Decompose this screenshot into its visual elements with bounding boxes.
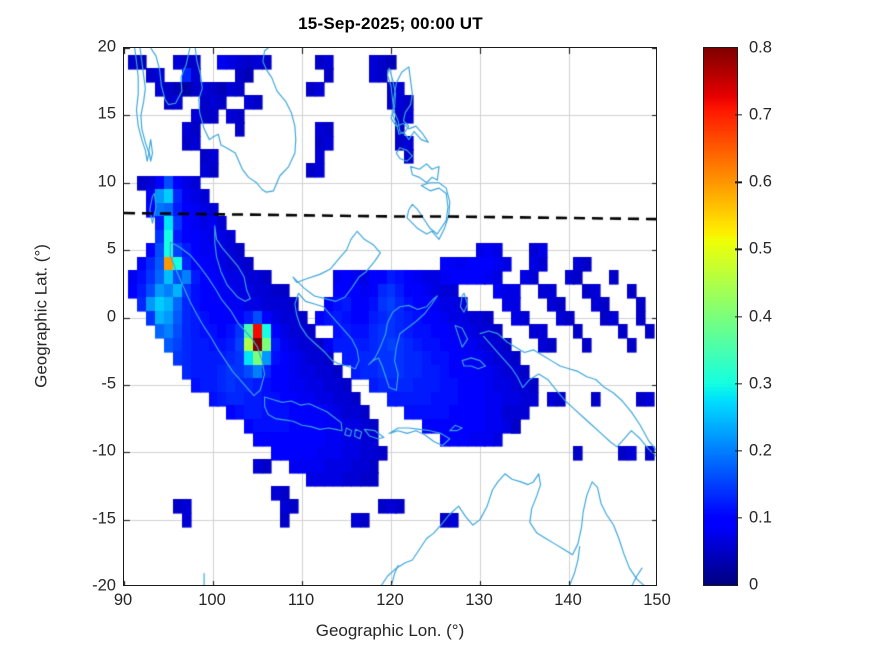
map-axes[interactable] <box>123 47 657 586</box>
y-tick-label: 20 <box>72 38 116 57</box>
colorbar-tick-mark <box>735 316 742 317</box>
y-tick-label: 10 <box>72 172 116 191</box>
colorbar-tick-mark <box>735 450 742 451</box>
y-tick-label: -5 <box>72 374 116 393</box>
colorbar-tick-label: 0.1 <box>749 508 772 527</box>
x-tick-label: 90 <box>88 591 158 610</box>
y-tick-label: -10 <box>72 442 116 461</box>
colorbar-tick-label: 0.7 <box>749 106 772 125</box>
x-tick-label: 150 <box>622 591 692 610</box>
x-tick-label: 110 <box>266 591 336 610</box>
x-tick-label: 120 <box>355 591 425 610</box>
y-tick-label: 5 <box>72 240 116 259</box>
colorbar-tick-label: 0.6 <box>749 173 772 192</box>
colorbar-tick-mark <box>735 249 742 250</box>
colorbar-tick-label: 0.4 <box>749 307 772 326</box>
colorbar-tick-label: 0.5 <box>749 240 772 259</box>
y-axis-ticks: -20-15-10-505101520 <box>64 47 116 586</box>
page-title: 15-Sep-2025; 00:00 UT <box>123 14 658 34</box>
roti-map-figure: 15-Sep-2025; 00:00 UT -20-15-10-50510152… <box>0 0 875 656</box>
y-tick-label: 15 <box>72 105 116 124</box>
colorbar[interactable] <box>703 47 738 586</box>
roti-heatmap-canvas[interactable] <box>124 48 657 586</box>
colorbar-ticks: 00.10.20.30.40.50.60.70.8 <box>741 47 787 586</box>
colorbar-tick-mark <box>735 182 742 183</box>
y-tick-label: 0 <box>72 307 116 326</box>
x-tick-label: 100 <box>177 591 247 610</box>
x-tick-label: 140 <box>533 591 603 610</box>
y-axis-label: Geographic Lat. (°) <box>32 47 52 586</box>
colorbar-gradient <box>704 48 737 585</box>
colorbar-tick-label: 0.8 <box>749 39 772 58</box>
x-axis-ticks: 90100110120130140150 <box>123 591 657 619</box>
colorbar-tick-mark <box>735 517 742 518</box>
colorbar-tick-label: 0 <box>749 576 758 595</box>
x-axis-label: Geographic Lon. (°) <box>123 621 657 641</box>
colorbar-tick-mark <box>735 383 742 384</box>
colorbar-tick-label: 0.3 <box>749 374 772 393</box>
y-tick-label: -15 <box>72 509 116 528</box>
x-tick-label: 130 <box>444 591 514 610</box>
colorbar-tick-label: 0.2 <box>749 441 772 460</box>
colorbar-tick-mark <box>735 114 742 115</box>
